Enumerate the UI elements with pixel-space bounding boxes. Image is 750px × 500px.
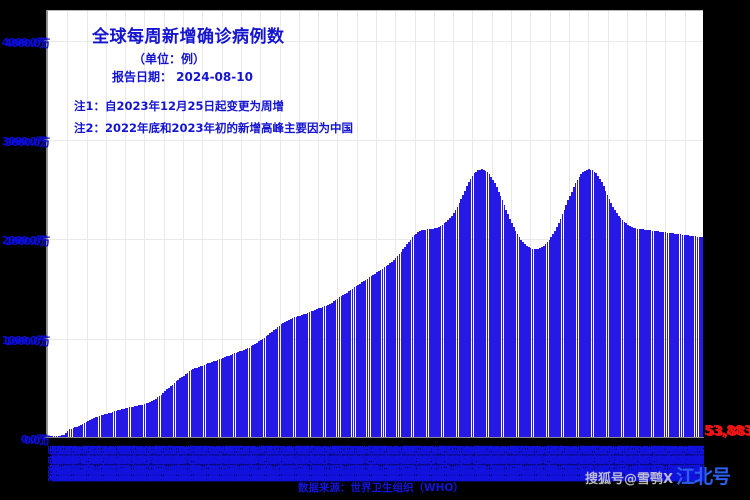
y-tick-label: 1000.0万1000.0万 [0,332,46,348]
y-tick-label: 2000.0万2000.0万 [0,232,46,248]
note-2: 注2：2022年底和2023年初的新增高峰主要因为中国 [74,120,353,136]
y-tick-label-ghost: 0.0万 [0,432,49,448]
last-value-label: 53,883 53,883 [704,424,750,439]
y-tick-label-ghost: 1000.0万 [0,333,49,349]
y-tick-label: 0.0万0.0万 [0,431,46,447]
y-tick-label-ghost: 3000.0万 [0,134,49,150]
y-axis-line [46,10,47,438]
chart-page: 0.0万0.0万1000.0万1000.0万2000.0万2000.0万3000… [0,0,750,500]
watermark-brand: 江北号 [676,462,730,489]
data-source-caption: 数据来源：世界卫生组织（WHO） [298,480,464,495]
y-tick-label: 3000.0万3000.0万 [0,133,46,149]
note-1: 注1：自2023年12月25日起变更为周增 [74,98,284,114]
report-date: 报告日期： 2024-08-10 [112,68,253,85]
watermark-sohu: 搜狐号@雪鹗X [585,468,673,487]
chart-subtitle: （单位：例） [133,50,205,67]
chart-title: 全球每周新增确诊病例数 [92,22,285,47]
y-tick-label: 4000.0万4000.0万 [0,34,46,50]
y-tick-label-ghost: 4000.0万 [0,35,49,51]
bar [702,237,703,437]
last-value-text-ghost: 53,883 [706,425,750,440]
y-tick-label-ghost: 2000.0万 [0,233,49,249]
